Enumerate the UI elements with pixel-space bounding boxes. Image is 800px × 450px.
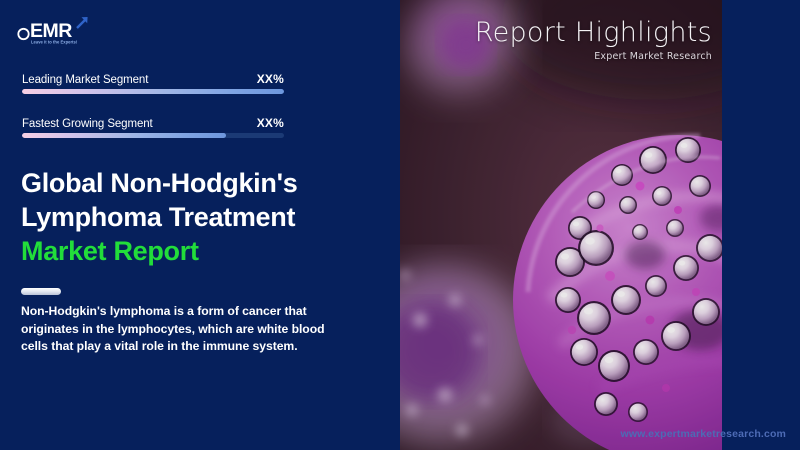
segment-progress-track bbox=[22, 133, 284, 138]
segment-label: Fastest Growing Segment bbox=[22, 118, 153, 130]
divider-pill bbox=[21, 288, 61, 295]
segment-label: Leading Market Segment bbox=[22, 74, 148, 86]
cell-microscopy-illustration bbox=[400, 0, 722, 450]
title-accent-line: Market Report bbox=[21, 234, 373, 268]
cover-image: Report Highlights Expert Market Research bbox=[400, 0, 722, 450]
report-highlights-slide: EMR Leave it to the Experts! Leading Mar… bbox=[0, 0, 800, 450]
report-highlights-title: Report Highlights bbox=[475, 18, 712, 48]
logo-circle-icon bbox=[18, 29, 28, 39]
title-line-2: Lymphoma Treatment bbox=[21, 202, 295, 232]
segment-value: XX% bbox=[257, 116, 284, 130]
page-title: Global Non-Hodgkin's Lymphoma Treatment … bbox=[21, 166, 373, 268]
segment-value: XX% bbox=[257, 72, 284, 86]
emr-logo[interactable]: EMR Leave it to the Experts! bbox=[16, 12, 102, 46]
arrow-up-right-icon bbox=[77, 17, 88, 28]
segment-progress-track bbox=[22, 89, 284, 94]
svg-text:Leave it to the Experts!: Leave it to the Experts! bbox=[31, 40, 77, 45]
description-text: Non-Hodgkin's lymphoma is a form of canc… bbox=[21, 303, 341, 356]
segment-row-fastest: Fastest Growing Segment XX% bbox=[22, 116, 284, 138]
title-line-1: Global Non-Hodgkin's bbox=[21, 168, 297, 198]
segment-stats-group: Leading Market Segment XX% Fastest Growi… bbox=[22, 72, 284, 160]
segment-progress-fill bbox=[22, 133, 226, 138]
emr-logo-mark: EMR Leave it to the Experts! bbox=[16, 12, 102, 46]
report-highlights-subtitle: Expert Market Research bbox=[475, 51, 712, 62]
left-content-panel: EMR Leave it to the Experts! Leading Mar… bbox=[0, 0, 400, 450]
website-url[interactable]: www.expertmarketresearch.com bbox=[621, 428, 786, 440]
segment-row-leading: Leading Market Segment XX% bbox=[22, 72, 284, 94]
photo-title-block: Report Highlights Expert Market Research bbox=[475, 18, 712, 62]
segment-progress-fill bbox=[22, 89, 284, 94]
